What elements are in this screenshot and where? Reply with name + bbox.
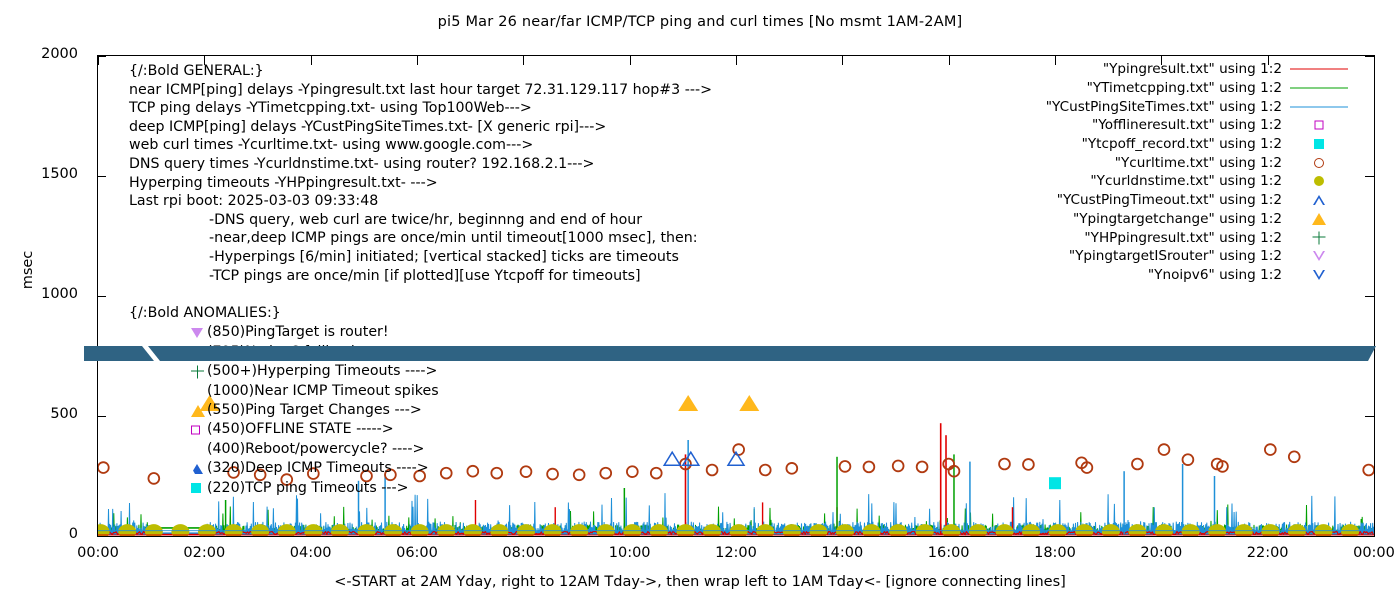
legend-entry-label: "Ypingresult.txt" using 1:2 [1103,61,1282,77]
general-indented-line: -TCP pings are once/min [if plotted][use… [129,267,712,286]
anomaly-label: (320)Deep ICMP Timeouts ----> [129,459,429,478]
legend-key-square-open-icon [1288,116,1350,134]
legend-entry[interactable]: "Ycurldnstime.txt" using 1:2 [960,172,1350,191]
legend-entry-label: "YCustPingSiteTimes.txt" using 1:2 [1046,99,1282,115]
anomaly-row: (400)Reboot/powercycle? ----> [129,440,439,459]
legend-entry[interactable]: "YHPpingresult.txt" using 1:2 [960,228,1350,247]
legend-entry[interactable]: "YTimetcpping.txt" using 1:2 [960,79,1350,98]
legend-entry[interactable]: "Ypingtargetchange" using 1:2 [960,210,1350,229]
anomaly-label: (400)Reboot/powercycle? ----> [129,440,424,459]
general-annotation-block: {/:Bold GENERAL:} near ICMP[ping] delays… [129,62,712,285]
general-indented-line: -Hyperpings [6/min] initiated; [vertical… [129,248,712,267]
anomaly-row: (500+)Hyperping Timeouts ----> [129,362,439,381]
general-line: web curl times -Ycurltime.txt- using www… [129,136,712,155]
page-title: pi5 Mar 26 near/far ICMP/TCP ping and cu… [0,14,1400,30]
x-tick-label: 00:00 [53,545,143,561]
legend-key-plus-icon [1288,229,1350,247]
legend-key-circle-open-icon [1288,154,1350,172]
x-tick-label: 04:00 [266,545,356,561]
anomalies-heading: {/:Bold ANOMALIES:} [129,304,439,323]
anomaly-marker-square-fill-icon [191,483,201,493]
legend-key-line-icon [1288,79,1350,97]
legend-entry-label: "Ypingtargetchange" using 1:2 [1073,211,1282,227]
x-tick-label: 06:00 [372,545,462,561]
legend-entry-label: "Ycurldnstime.txt" using 1:2 [1090,173,1282,189]
y-tick-label: 0 [20,526,78,542]
anomaly-label: (550)Ping Target Changes ---> [129,401,422,420]
anomaly-label: (500+)Hyperping Timeouts ----> [129,362,437,381]
legend-entry-label: "Ytcpoff_record.txt" using 1:2 [1082,136,1282,152]
x-axis-label: <-START at 2AM Yday, right to 12AM Tday-… [0,574,1400,590]
y-tick-label: 2000 [20,46,78,62]
anomaly-row: (220)TCP ping Timeouts ---> [129,479,439,498]
general-indented-line: -DNS query, web curl are twice/hr, begin… [129,211,712,230]
legend-entry[interactable]: "Ycurltime.txt" using 1:2 [960,153,1350,172]
legend-entry-label: "Ynoipv6" using 1:2 [1148,267,1282,283]
anomaly-marker-tri-up-open-icon [191,464,203,474]
legend-entry-label: "YHPpingresult.txt" using 1:2 [1084,230,1282,246]
teal-overlay-banner [84,346,1376,361]
legend-entry-label: "YCustPingTimeout.txt" using 1:2 [1057,192,1282,208]
legend-entry-label: "YTimetcpping.txt" using 1:2 [1087,80,1282,96]
anomaly-label: (450)OFFLINE STATE -----> [129,420,394,439]
x-tick-label: 18:00 [1010,545,1100,561]
anomaly-marker-plus-icon [191,365,204,378]
general-line: Hyperping timeouts -YHPpingresult.txt- -… [129,174,712,193]
anomaly-marker-square-open-icon [191,426,200,435]
general-line: Last rpi boot: 2025-03-03 09:33:48 [129,192,712,211]
x-tick-label: 22:00 [1223,545,1313,561]
general-heading: {/:Bold GENERAL:} [129,62,712,81]
anomaly-row: (320)Deep ICMP Timeouts ----> [129,459,439,478]
legend-key-line-icon [1288,98,1350,116]
general-indented-lines: -DNS query, web curl are twice/hr, begin… [129,211,712,285]
legend-key-circle-fill-icon [1288,172,1350,190]
anomaly-row: (1000)Near ICMP Timeout spikes [129,382,439,401]
general-indented-line: -near,deep ICMP pings are once/min until… [129,229,712,248]
general-line: DNS query times -Ycurldnstime.txt- using… [129,155,712,174]
anomaly-row: (450)OFFLINE STATE -----> [129,420,439,439]
x-tick-label: 20:00 [1116,545,1206,561]
legend-key-tri-dn-blue-icon [1288,266,1350,284]
x-tick-label: 10:00 [585,545,675,561]
anomaly-label: (220)TCP ping Timeouts ---> [129,479,409,498]
legend-entry[interactable]: "Ypingresult.txt" using 1:2 [960,60,1350,79]
anomaly-marker-tri-up-fill-icon [191,405,205,417]
general-lines: near ICMP[ping] delays -Ypingresult.txt … [129,81,712,211]
general-line: TCP ping delays -YTimetcpping.txt- using… [129,99,712,118]
legend-key-tri-up-open-icon [1288,191,1350,209]
legend: "Ypingresult.txt" using 1:2"YTimetcpping… [960,60,1350,284]
general-line: near ICMP[ping] delays -Ypingresult.txt … [129,81,712,100]
x-tick-label: 02:00 [159,545,249,561]
legend-entry[interactable]: "YCustPingTimeout.txt" using 1:2 [960,191,1350,210]
legend-entry[interactable]: "Yofflineresult.txt" using 1:2 [960,116,1350,135]
legend-entry-label: "Ycurltime.txt" using 1:2 [1115,155,1282,171]
legend-entry[interactable]: "Ytcpoff_record.txt" using 1:2 [960,135,1350,154]
y-tick-label: 500 [20,406,78,422]
x-tick-label: 08:00 [478,545,568,561]
x-tick-label: 00:00 [1329,545,1400,561]
legend-entry[interactable]: "YpingtargetISrouter" using 1:2 [960,247,1350,266]
legend-key-square-fill-icon [1288,135,1350,153]
legend-entry[interactable]: "Ynoipv6" using 1:2 [960,266,1350,285]
legend-key-line-icon [1288,60,1350,78]
x-tick-label: 16:00 [904,545,994,561]
x-tick-label: 14:00 [797,545,887,561]
anomaly-label: (850)PingTarget is router! [129,323,389,342]
general-line: deep ICMP[ping] delays -YCustPingSiteTim… [129,118,712,137]
legend-entry-label: "YpingtargetISrouter" using 1:2 [1069,248,1282,264]
anomaly-row: (850)PingTarget is router! [129,323,439,342]
legend-key-tri-up-fill-icon [1288,210,1350,228]
legend-entry-label: "Yofflineresult.txt" using 1:2 [1092,117,1282,133]
anomalies-annotation-block: {/:Bold ANOMALIES:} (850)PingTarget is r… [129,304,439,498]
y-tick-label: 1000 [20,286,78,302]
legend-key-tri-dn-violet-icon [1288,247,1350,265]
anomaly-row: (550)Ping Target Changes ---> [129,401,439,420]
y-tick-label: 1500 [20,166,78,182]
x-tick-label: 12:00 [691,545,781,561]
legend-entry[interactable]: "YCustPingSiteTimes.txt" using 1:2 [960,97,1350,116]
anomaly-label: (1000)Near ICMP Timeout spikes [129,382,439,401]
